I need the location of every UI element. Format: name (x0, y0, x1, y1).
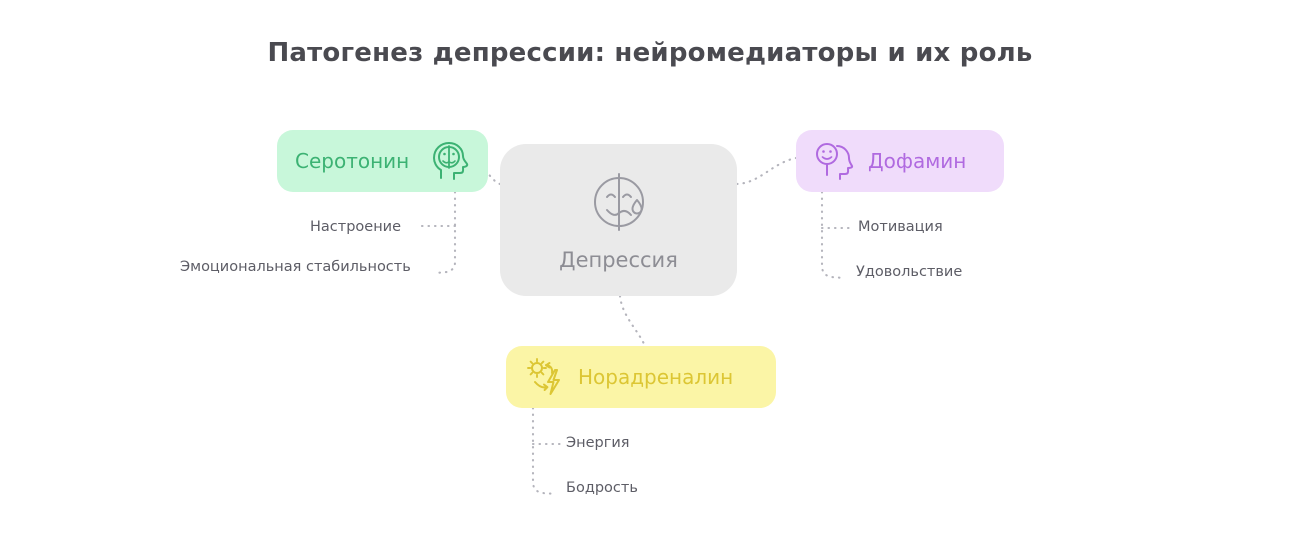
node-noradrenaline-label: Норадреналин (578, 365, 733, 389)
node-dopamine-label: Дофамин (868, 149, 966, 173)
sublabel-noradrenaline-energy: Энергия (566, 435, 630, 451)
node-depression-label: Депрессия (559, 248, 678, 272)
sublabel-serotonin-stability: Эмоциональная стабильность (180, 259, 411, 275)
sun-with-lightning-bolt-icon (524, 356, 566, 398)
connector-center-to-dopamine (737, 158, 796, 184)
head-with-split-face-icon (432, 141, 470, 181)
sublabel-noradrenaline-cheerfulness: Бодрость (566, 480, 638, 496)
connector-noradrenaline-spine (533, 408, 556, 494)
diagram-canvas: Патогенез депрессии: нейромедиаторы и их… (0, 0, 1300, 546)
node-noradrenaline[interactable]: Норадреналин (506, 346, 776, 408)
sublabel-dopamine-motivation: Мотивация (858, 219, 943, 235)
node-dopamine[interactable]: Дофамин (796, 130, 1004, 192)
connector-dopamine-spine (822, 192, 844, 278)
sublabel-serotonin-mood: Настроение (310, 219, 401, 235)
connector-serotonin-spine (436, 192, 455, 273)
node-depression[interactable]: Депрессия (500, 144, 737, 296)
node-serotonin[interactable]: Серотонин (277, 130, 488, 192)
sublabel-dopamine-pleasure: Удовольствие (856, 264, 962, 280)
half-smile-half-sad-face-with-tear-icon (585, 168, 653, 236)
head-with-smiley-face-icon (814, 141, 854, 181)
node-serotonin-label: Серотонин (295, 149, 409, 173)
connector-center-to-noradrenaline (620, 296, 645, 346)
page-title: Патогенез депрессии: нейромедиаторы и их… (0, 38, 1300, 68)
